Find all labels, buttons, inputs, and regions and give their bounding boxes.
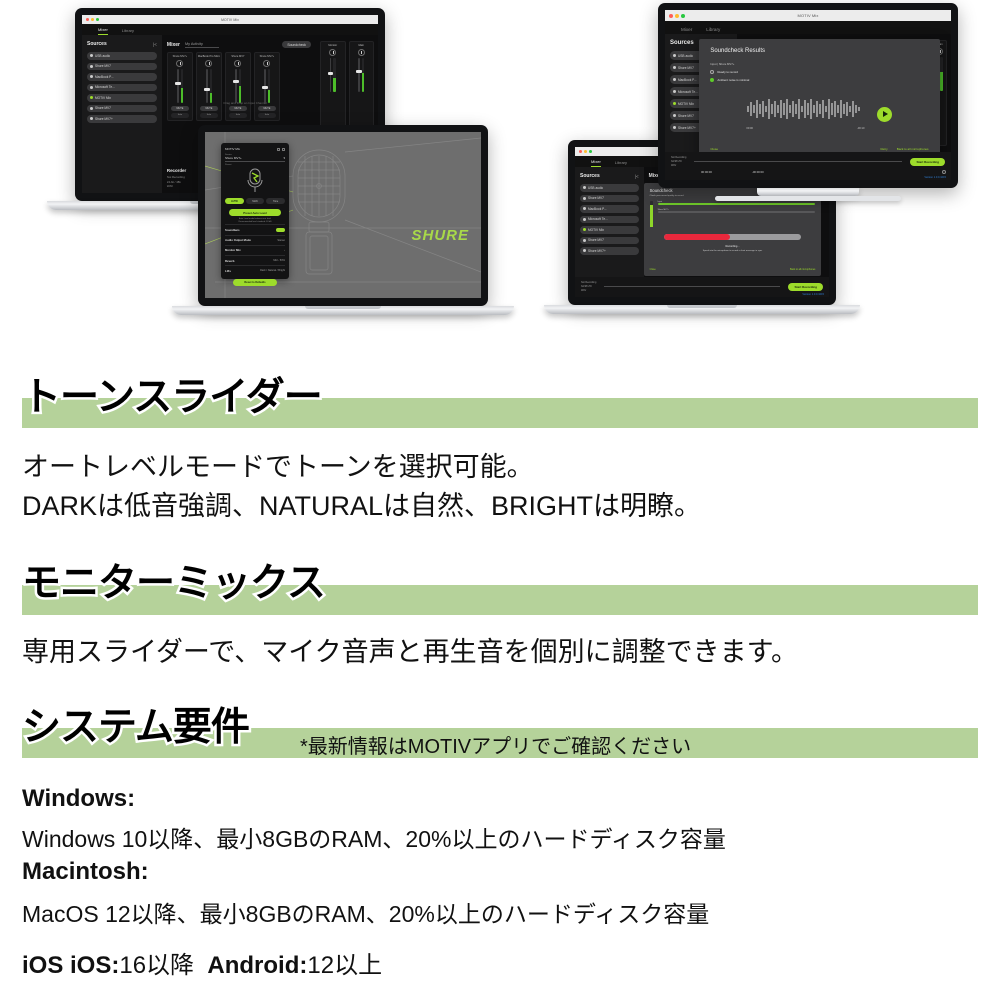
level-meter xyxy=(650,201,653,227)
laptop-notch xyxy=(305,306,380,309)
preset-auto-level-button[interactable]: Preset Auto Level xyxy=(229,209,281,216)
row-label: Monitor Mix xyxy=(225,248,241,252)
row-value: Mid - 50% xyxy=(273,259,285,262)
level-meter xyxy=(210,69,212,103)
play-icon[interactable] xyxy=(877,107,892,122)
list-item[interactable]: Shure MV7 xyxy=(87,105,157,113)
source-label: Shure MV7+ xyxy=(95,117,113,121)
source-label: Shure MV7 xyxy=(678,114,694,118)
pan-knob[interactable] xyxy=(263,60,270,67)
maximize-icon[interactable] xyxy=(589,150,592,153)
dialog-meters: Input Shure MV7+ xyxy=(650,201,816,227)
scrub-line[interactable] xyxy=(604,286,780,287)
solo-button[interactable]: Solo xyxy=(200,113,218,118)
list-item[interactable]: Microsoft Te... xyxy=(580,216,639,224)
laptop-notch xyxy=(667,305,737,308)
fader-group xyxy=(227,69,249,103)
pan-knob[interactable] xyxy=(205,60,212,67)
mic-icon xyxy=(673,78,676,81)
fader-cap[interactable] xyxy=(262,86,268,89)
ios-label: iOS iOS: xyxy=(22,952,119,979)
fader-track[interactable] xyxy=(358,58,359,92)
page-root: MOTIV Mix Mixer Library Sources |< USB a… xyxy=(0,0,1000,1000)
gear-icon[interactable] xyxy=(942,170,946,174)
sources-title: Sources xyxy=(580,173,600,179)
mic-icon xyxy=(90,75,93,78)
mic-icon xyxy=(90,117,93,120)
minimize-icon[interactable] xyxy=(584,150,587,153)
source-label: Shure MV7 xyxy=(588,196,604,200)
back-link[interactable]: Back to all microphones xyxy=(790,268,815,271)
tab-library[interactable]: Library xyxy=(706,27,720,34)
mic-icon xyxy=(583,186,586,189)
android-value: 12以上 xyxy=(307,952,382,979)
mode-tone[interactable]: Tone xyxy=(266,198,285,204)
monitor-stand xyxy=(757,188,859,196)
mute-button[interactable]: MUTE xyxy=(229,106,247,111)
sources-title: Sources xyxy=(670,40,694,46)
dialog-footer: Close Back to all microphones xyxy=(650,268,816,271)
mic-icon xyxy=(673,114,676,117)
mic-illustration xyxy=(225,166,285,196)
window-titlebar: MOTIV Mix xyxy=(82,15,378,24)
input-label: Input | Shure MV7+ xyxy=(710,62,928,66)
channel-strip[interactable]: Shure MV7+ MUTE Solo xyxy=(167,52,193,121)
source-label: MOTIV Mix xyxy=(678,102,694,106)
fader-cap[interactable] xyxy=(204,88,210,91)
format-info: Not Recording 32/48 kHz WAV xyxy=(671,156,686,168)
source-label: MacBook P... xyxy=(588,207,607,211)
mic-icon xyxy=(583,207,586,210)
row-label: Reverb xyxy=(225,259,234,263)
pan-knob[interactable] xyxy=(176,60,183,67)
row-label: Soundbars xyxy=(225,228,240,232)
list-item[interactable]: Shure MV7+ xyxy=(87,115,157,123)
playback-area: 00:00 -00:10 xyxy=(710,82,928,147)
list-item[interactable]: MacBook P... xyxy=(87,73,157,81)
list-item[interactable]: MOTIV Mix xyxy=(87,94,157,102)
shure-watermark: SHURE xyxy=(411,227,469,244)
elapsed-time: 00:00:00 xyxy=(701,170,712,174)
channel-label: Shure MV7+ xyxy=(256,55,278,58)
close-icon[interactable] xyxy=(579,150,582,153)
device-field[interactable]: Device Shure MV7+▾ Preset xyxy=(225,154,285,166)
tab-mixer[interactable]: Mixer xyxy=(681,27,692,34)
transport-bar: Not Recording 32/48 kHz WAV Start Record… xyxy=(575,277,829,297)
fader-group xyxy=(169,69,191,103)
chevron-right-icon[interactable]: › xyxy=(284,249,285,252)
waveform-block: 00:00 -00:10 xyxy=(746,98,864,130)
mic-icon xyxy=(673,54,676,57)
source-label: Shure MV7 xyxy=(95,106,111,110)
recorder-line: Not Recording xyxy=(167,175,186,179)
mixer-header: Mixer My Activity Soundcheck xyxy=(167,41,311,48)
time-readouts: 00:00:00 -00:00:00 xyxy=(671,170,945,174)
channel-label: Shure MV7 xyxy=(227,55,249,58)
fader-track[interactable] xyxy=(235,69,236,103)
mute-button[interactable]: MUTE xyxy=(258,106,276,111)
laptop-mic-control: SHURE MOTIV Mix Device Shure MV7+▾ Prese… xyxy=(198,125,488,315)
microphone-icon xyxy=(245,168,265,194)
radio-icon xyxy=(710,70,714,74)
secondary-level-bar xyxy=(658,211,816,213)
source-label: Shure MV7+ xyxy=(678,126,696,130)
reset-defaults-button[interactable]: Reset to Defaults xyxy=(233,279,277,286)
hero-product-imagery: MOTIV Mix Mixer Library Sources |< USB a… xyxy=(0,0,1000,358)
mic-icon xyxy=(583,197,586,200)
list-item[interactable]: Microsoft Te... xyxy=(87,84,157,92)
close-icon[interactable] xyxy=(282,148,285,151)
mic-icon xyxy=(90,65,93,68)
mode-auto[interactable]: AUTO xyxy=(225,198,244,204)
list-item[interactable]: Shure MV7 xyxy=(580,237,639,245)
fader-track[interactable] xyxy=(330,58,331,92)
master-label: Main xyxy=(351,44,373,47)
window-titlebar: MOTIV Mix xyxy=(665,10,951,21)
format-line: WAV xyxy=(581,289,596,293)
level-meter xyxy=(181,69,183,103)
recorder-line: WAV xyxy=(167,184,186,188)
spacer xyxy=(194,952,207,979)
laptop-screen: SHURE MOTIV Mix Device Shure MV7+▾ Prese… xyxy=(205,132,481,298)
panel-header: MOTIV Mix xyxy=(225,147,285,151)
window-title: MOTIV Mix xyxy=(665,13,951,18)
mic-icon xyxy=(583,228,586,231)
scrub-line[interactable] xyxy=(694,161,902,162)
dialog-footer: Close Retry Back to all microphones xyxy=(710,147,928,151)
soundcheck-button[interactable]: Soundcheck xyxy=(282,41,311,48)
mic-icon xyxy=(90,54,93,57)
mute-button[interactable]: MUTE xyxy=(171,106,189,111)
input-level-bar xyxy=(658,203,816,205)
tab-mixer[interactable]: Mixer xyxy=(591,159,601,167)
mute-button[interactable]: MUTE xyxy=(200,106,218,111)
channel-strips: Shure MV7+ MUTE Solo xyxy=(167,52,311,121)
section-body-line: DARKは低音強調、NATURALは自然、BRIGHTは明瞭。 xyxy=(22,487,701,526)
sources-header: Sources |< xyxy=(580,173,639,179)
source-label: Shure MV7 xyxy=(588,238,604,242)
expand-icon[interactable] xyxy=(277,148,280,151)
format-info: Not Recording 32/48 kHz WAV xyxy=(581,281,596,293)
level-meter xyxy=(239,69,241,103)
check-label: Ready to record xyxy=(717,70,738,74)
channel-strip[interactable]: Shure MV7 MUTE Solo xyxy=(225,52,251,121)
pan-knob[interactable] xyxy=(329,49,336,56)
row-monitor-mix[interactable]: Monitor Mix › xyxy=(225,245,285,255)
source-label: Shure MV7 xyxy=(95,64,111,68)
time-start: 00:00 xyxy=(746,127,753,130)
list-item[interactable]: Shure MV7 xyxy=(580,195,639,203)
chevron-down-icon[interactable]: ▾ xyxy=(283,156,285,160)
pan-knob[interactable] xyxy=(234,60,241,67)
mobile-requirements: iOS iOS:16以降 Android:12以上 xyxy=(22,945,382,980)
fader-track[interactable] xyxy=(264,69,265,103)
mode-selector[interactable]: AUTO MAN Tone xyxy=(225,198,285,204)
fader-group xyxy=(322,58,344,92)
retry-link[interactable]: Retry xyxy=(881,147,888,151)
start-recording-button[interactable]: Start Recording xyxy=(788,283,823,291)
panel-icons[interactable] xyxy=(277,148,285,151)
device-name: Shure MV7+ xyxy=(225,156,242,160)
monitor-screen: MOTIV Mix Mixer Library Sources |< USB a… xyxy=(665,10,951,180)
macintosh-value: MacOS 12以降、最小8GBのRAM、20%以上のハードディスク容量 xyxy=(22,895,709,929)
master-label: Monitor xyxy=(322,44,344,47)
collapse-icon[interactable]: |< xyxy=(635,174,639,179)
fader-cap[interactable] xyxy=(233,80,239,83)
mic-icon xyxy=(673,102,676,105)
collapse-icon[interactable]: |< xyxy=(153,42,157,47)
mic-icon xyxy=(583,239,586,242)
activity-select[interactable]: My Activity xyxy=(185,42,219,48)
monitor-bezel: MOTIV Mix Mixer Library Sources |< USB a… xyxy=(658,3,958,188)
panel-title: MOTIV Mix xyxy=(225,147,240,151)
monitor-foot xyxy=(715,196,901,201)
channel-strip[interactable]: Shure MV7+ MUTE Solo xyxy=(254,52,280,121)
recording-status: Recording... xyxy=(650,245,816,248)
mic-icon xyxy=(583,249,586,252)
source-label: MOTIV Mix xyxy=(588,228,604,232)
mic-icon xyxy=(673,90,676,93)
solo-button[interactable]: Solo xyxy=(229,113,247,118)
source-label: Microsoft Te... xyxy=(588,217,608,221)
dialog-title: Soundcheck Results xyxy=(710,48,928,54)
channel-label: Shure MV7+ xyxy=(169,55,191,58)
tab-library[interactable]: Library xyxy=(122,28,134,35)
tabbar: Mixer Library xyxy=(82,24,378,35)
mode-man[interactable]: MAN xyxy=(246,198,265,204)
device-value[interactable]: Shure MV7+▾ xyxy=(225,156,285,162)
format-line: WAV xyxy=(671,164,686,168)
row-label: Audio Output Mode xyxy=(225,238,251,242)
monitor-soundcheck-results: MOTIV Mix Mixer Library Sources |< USB a… xyxy=(658,3,958,201)
level-meter xyxy=(362,58,364,92)
channel-label: MacBook Pro Micro... xyxy=(198,55,220,58)
laptop-lid: SHURE MOTIV Mix Device Shure MV7+▾ Prese… xyxy=(198,125,488,306)
row-label: Lifts xyxy=(225,269,231,273)
list-item[interactable]: MOTIV Mix xyxy=(580,226,639,234)
source-label: USB audio xyxy=(588,186,603,190)
tab-library[interactable]: Library xyxy=(615,160,627,167)
source-label: USB audio xyxy=(678,54,693,58)
page-title: システム要件 xyxy=(22,696,249,752)
list-item[interactable]: Shure MV7 xyxy=(87,63,157,71)
close-link[interactable]: Close xyxy=(710,147,718,151)
source-label: Shure MV7 xyxy=(678,66,694,70)
soundcheck-results-dialog: Soundcheck Results Input | Shure MV7+ Re… xyxy=(699,39,939,160)
fader-cap[interactable] xyxy=(175,82,181,85)
row-reverb[interactable]: Reverb Mid - 50% xyxy=(225,255,285,265)
list-item[interactable]: USB audio xyxy=(87,52,157,60)
windows-value: Windows 10以降、最小8GBのRAM、20%以上のハードディスク容量 xyxy=(22,820,726,854)
channel-strip[interactable]: MacBook Pro Micro... MUTE Solo xyxy=(196,52,222,121)
source-label: USB audio xyxy=(95,54,110,58)
sources-header: Sources |< xyxy=(87,41,157,47)
time-end: -00:10 xyxy=(857,127,864,130)
android-label: Android: xyxy=(207,952,307,979)
page-title: モニターミックス xyxy=(22,552,325,608)
source-label: MOTIV Mix xyxy=(95,96,111,100)
recorder-title: Recorder xyxy=(167,168,186,173)
fader-track[interactable] xyxy=(206,69,207,103)
requirements-note: *最新情報はMOTIVアプリでご確認ください xyxy=(300,730,691,759)
source-label: Shure MV7+ xyxy=(588,249,606,253)
close-link[interactable]: Close xyxy=(650,268,656,271)
page-title: トーンスライダー xyxy=(22,366,322,422)
ios-value: 16以降 xyxy=(119,952,194,979)
list-item[interactable]: USB audio xyxy=(580,184,639,192)
source-label: MacBook P... xyxy=(678,78,697,82)
mic-icon xyxy=(90,86,93,89)
toggle-switch[interactable] xyxy=(276,228,285,232)
waveform-icon xyxy=(746,98,864,120)
version-label: Version 1.0.0.1015 xyxy=(924,176,946,179)
check-ready-to-record: Ready to record xyxy=(710,70,928,74)
transport-row: Not Recording 32/48 kHz WAV Start Record… xyxy=(671,156,945,168)
solo-button[interactable]: Solo xyxy=(171,113,189,118)
transport-row: Not Recording 32/48 kHz WAV Start Record… xyxy=(581,281,823,293)
list-item[interactable]: Shure MV7+ xyxy=(580,247,639,255)
start-recording-button[interactable]: Start Recording xyxy=(910,158,945,166)
level-meter xyxy=(940,57,942,91)
section-body-line: 専用スライダーで、マイク音声と再生音を個別に調整できます。 xyxy=(22,633,798,672)
windows-label: Windows: xyxy=(22,785,135,813)
mic-icon xyxy=(673,66,676,69)
pan-knob[interactable] xyxy=(358,49,365,56)
mic-icon xyxy=(90,96,93,99)
remaining-time: -00:00:00 xyxy=(752,170,764,174)
fader-track[interactable] xyxy=(177,69,178,103)
sources-panel: Sources |< USB audio Shure MV7 MacBook P… xyxy=(82,35,162,193)
waveform-times: 00:00 -00:10 xyxy=(746,127,864,130)
row-soundbars[interactable]: Soundbars xyxy=(225,224,285,234)
footer-right-links: Retry Back to all microphones xyxy=(881,147,929,151)
source-label: MacBook P... xyxy=(95,75,114,79)
mic-icon xyxy=(90,107,93,110)
window-title: MOTIV Mix xyxy=(82,18,378,22)
mic-icon xyxy=(583,218,586,221)
mic-icon xyxy=(673,126,676,129)
transport-bar: Not Recording 32/48 kHz WAV Start Record… xyxy=(665,152,951,180)
input-summary: Input Shure MV7+ xyxy=(658,201,816,227)
back-to-all-microphones-link[interactable]: Back to all microphones xyxy=(897,147,929,151)
mixer-title: Mixer xyxy=(167,42,180,48)
recording-instruction: Speak into the microphone to record a sh… xyxy=(650,250,816,252)
macintosh-label: Macintosh: xyxy=(22,858,149,886)
version-label: Version 1.0.0.1015 xyxy=(802,293,824,296)
section-heading-wrap: システム要件 xyxy=(22,696,249,752)
fader-group xyxy=(351,58,373,92)
section-heading-wrap: モニターミックス xyxy=(22,552,325,608)
level-meter xyxy=(333,58,335,92)
row-audio-output-mode[interactable]: Audio Output Mode Stereo xyxy=(225,235,285,245)
row-value: Stereo xyxy=(277,239,285,242)
section-body-line: オートレベルモードでトーンを選択可能。 xyxy=(22,448,534,487)
list-item[interactable]: MacBook P... xyxy=(580,205,639,213)
recording-progress-bar xyxy=(664,234,802,240)
source-label: Microsoft Te... xyxy=(95,85,115,89)
mic-control-panel: MOTIV Mix Device Shure MV7+▾ Preset xyxy=(221,143,289,279)
laptop-base xyxy=(172,306,514,315)
tab-mixer[interactable]: Mixer xyxy=(98,27,108,35)
section-heading-wrap: トーンスライダー xyxy=(22,366,322,422)
source-label: Microsoft Te... xyxy=(678,90,698,94)
sources-title: Sources xyxy=(87,41,107,47)
row-value: Dark / Natural / Bright xyxy=(260,269,285,272)
level-meter xyxy=(268,69,270,103)
empty-hint: Drag and Drop an Input Channel xyxy=(224,101,267,105)
row-lifts[interactable]: Lifts Dark / Natural / Bright xyxy=(225,265,285,275)
traffic-lights xyxy=(579,150,592,153)
solo-button[interactable]: Solo xyxy=(258,113,276,118)
laptop-base xyxy=(544,305,860,314)
fader-group xyxy=(198,69,220,103)
fader-group xyxy=(256,69,278,103)
recorder-panel: Recorder Not Recording 24-bit / 48k WAV xyxy=(167,168,186,188)
tabbar: Mixer Library xyxy=(665,21,951,34)
